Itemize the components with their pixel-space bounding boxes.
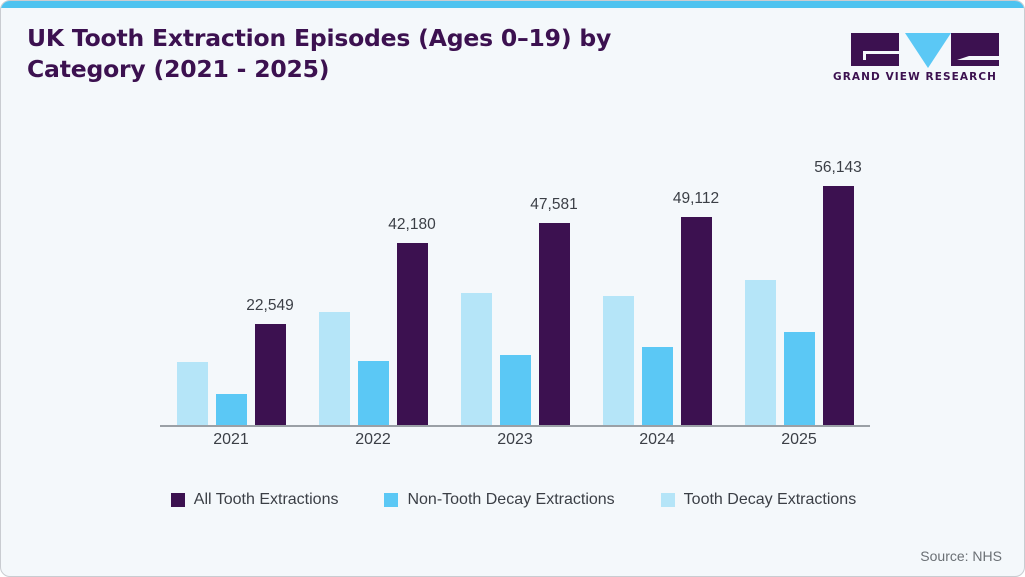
logo-triangle-v-icon bbox=[905, 33, 951, 68]
bar-group-2025: 56,143 bbox=[728, 121, 870, 425]
x-tick-2024: 2024 bbox=[586, 431, 728, 449]
bar-all-extractions-2022[interactable]: 42,180 bbox=[397, 243, 428, 425]
logo-mark bbox=[829, 29, 1001, 69]
grand-view-research-logo: GRAND VIEW RESEARCH bbox=[829, 29, 1001, 91]
bar-group-2024: 49,112 bbox=[586, 121, 728, 425]
bar-group-2021: 22,549 bbox=[160, 121, 302, 425]
bar-all-extractions-2024[interactable]: 49,112 bbox=[681, 217, 712, 425]
bar-tooth-decay-2021[interactable] bbox=[177, 362, 208, 425]
bar-all-extractions-2023[interactable]: 47,581 bbox=[539, 223, 570, 425]
logo-wordmark: GRAND VIEW RESEARCH bbox=[829, 71, 1001, 83]
bar-non-tooth-decay-2024[interactable] bbox=[642, 347, 673, 425]
bar-value-label: 42,180 bbox=[388, 216, 435, 234]
chart-header: UK Tooth Extraction Episodes (Ages 0–19)… bbox=[27, 23, 1004, 101]
x-tick-2021: 2021 bbox=[160, 431, 302, 449]
bar-tooth-decay-2024[interactable] bbox=[603, 296, 634, 425]
x-tick-2023: 2023 bbox=[444, 431, 586, 449]
x-axis-tick-labels: 2021 2022 2023 2024 2025 bbox=[160, 431, 870, 449]
x-tick-2025: 2025 bbox=[728, 431, 870, 449]
chart-legend: All Tooth Extractions Non-Tooth Decay Ex… bbox=[1, 491, 1025, 509]
legend-swatch-icon bbox=[384, 493, 398, 507]
logo-r-slash-icon bbox=[957, 47, 999, 61]
logo-letter-g-icon bbox=[851, 33, 899, 66]
bar-group-2022: 42,180 bbox=[302, 121, 444, 425]
legend-swatch-icon bbox=[171, 493, 185, 507]
bar-all-extractions-2025[interactable]: 56,143 bbox=[823, 186, 854, 425]
legend-swatch-icon bbox=[661, 493, 675, 507]
legend-item-non-tooth-decay-extractions[interactable]: Non-Tooth Decay Extractions bbox=[384, 491, 614, 509]
bar-chart-plot-area: 22,549 42,180 47,581 bbox=[160, 121, 870, 427]
bar-value-label: 22,549 bbox=[246, 297, 293, 315]
bar-value-label: 56,143 bbox=[814, 159, 861, 177]
bar-groups: 22,549 42,180 47,581 bbox=[160, 121, 870, 425]
source-note: Source: NHS bbox=[920, 548, 1002, 564]
legend-label: All Tooth Extractions bbox=[194, 491, 339, 509]
chart-card: UK Tooth Extraction Episodes (Ages 0–19)… bbox=[0, 0, 1025, 577]
logo-letter-r-icon bbox=[951, 33, 999, 66]
legend-item-all-tooth-extractions[interactable]: All Tooth Extractions bbox=[171, 491, 339, 509]
bar-tooth-decay-2025[interactable] bbox=[745, 280, 776, 425]
bar-all-extractions-2021[interactable]: 22,549 bbox=[255, 324, 286, 425]
legend-label: Non-Tooth Decay Extractions bbox=[407, 491, 614, 509]
page-title: UK Tooth Extraction Episodes (Ages 0–19)… bbox=[27, 23, 667, 86]
logo-g-stem bbox=[863, 51, 866, 60]
bar-group-2023: 47,581 bbox=[444, 121, 586, 425]
legend-label: Tooth Decay Extractions bbox=[684, 491, 857, 509]
logo-g-slot bbox=[863, 51, 899, 54]
x-axis-line bbox=[160, 425, 870, 427]
bar-tooth-decay-2023[interactable] bbox=[461, 293, 492, 425]
x-tick-2022: 2022 bbox=[302, 431, 444, 449]
bar-value-label: 47,581 bbox=[530, 196, 577, 214]
accent-top-strip bbox=[1, 1, 1024, 8]
bar-non-tooth-decay-2022[interactable] bbox=[358, 361, 389, 425]
bar-tooth-decay-2022[interactable] bbox=[319, 312, 350, 425]
bar-non-tooth-decay-2025[interactable] bbox=[784, 332, 815, 425]
bar-non-tooth-decay-2023[interactable] bbox=[500, 355, 531, 425]
bar-non-tooth-decay-2021[interactable] bbox=[216, 394, 247, 425]
legend-item-tooth-decay-extractions[interactable]: Tooth Decay Extractions bbox=[661, 491, 857, 509]
bar-value-label: 49,112 bbox=[673, 190, 719, 208]
